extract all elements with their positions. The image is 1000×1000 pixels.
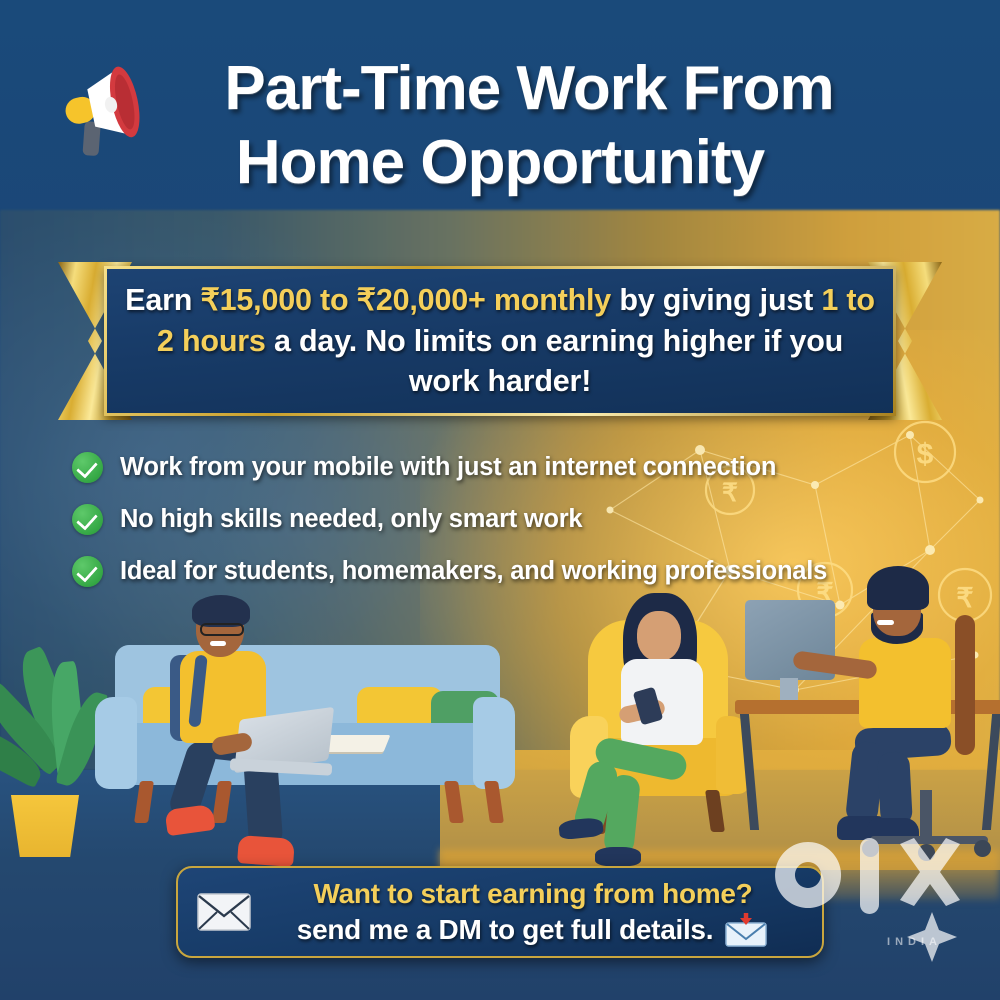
ribbon-body: Earn ₹15,000 to ₹20,000+ monthly by givi… [104,266,896,416]
envelope-incoming-icon [723,913,769,947]
check-circle-icon [72,504,103,535]
ribbon-seg-1: ₹15,000 to ₹20,000+ monthly [200,283,611,317]
ribbon-text: Earn ₹15,000 to ₹20,000+ monthly by givi… [125,280,875,402]
check-circle-icon [72,452,103,483]
cta-line-2: send me a DM to get full details. [297,914,713,946]
cta-line-2-row: send me a DM to get full details. [297,913,769,947]
ribbon-seg-2: by giving just [611,283,821,317]
benefits-list: Work from your mobile with just an inter… [72,452,952,608]
list-item-label: Work from your mobile with just an inter… [120,453,776,482]
cta-line-1: Want to start earning from home? [252,878,814,910]
poster-canvas: $ ₹ ₹ ₹ € [0,0,1000,1000]
check-circle-icon [72,556,103,587]
list-item-label: Ideal for students, homemakers, and work… [120,557,827,586]
office-chair-post [920,790,932,840]
cta-text-block: Want to start earning from home? send me… [252,878,822,947]
envelope-icon [196,891,252,933]
cta-banner[interactable]: Want to start earning from home? send me… [176,866,824,958]
man-on-couch-with-laptop [150,585,380,885]
earnings-ribbon-banner: Earn ₹15,000 to ₹20,000+ monthly by givi… [58,262,942,420]
list-item: Ideal for students, homemakers, and work… [72,556,952,587]
ribbon-seg-4: a day. No limits on earning higher if yo… [266,324,843,399]
list-item: Work from your mobile with just an inter… [72,452,952,483]
megaphone-icon [52,62,160,158]
olx-watermark [772,834,982,964]
list-item: No high skills needed, only smart work [72,504,952,535]
ribbon-seg-0: Earn [125,283,200,317]
list-item-label: No high skills needed, only smart work [120,505,582,534]
